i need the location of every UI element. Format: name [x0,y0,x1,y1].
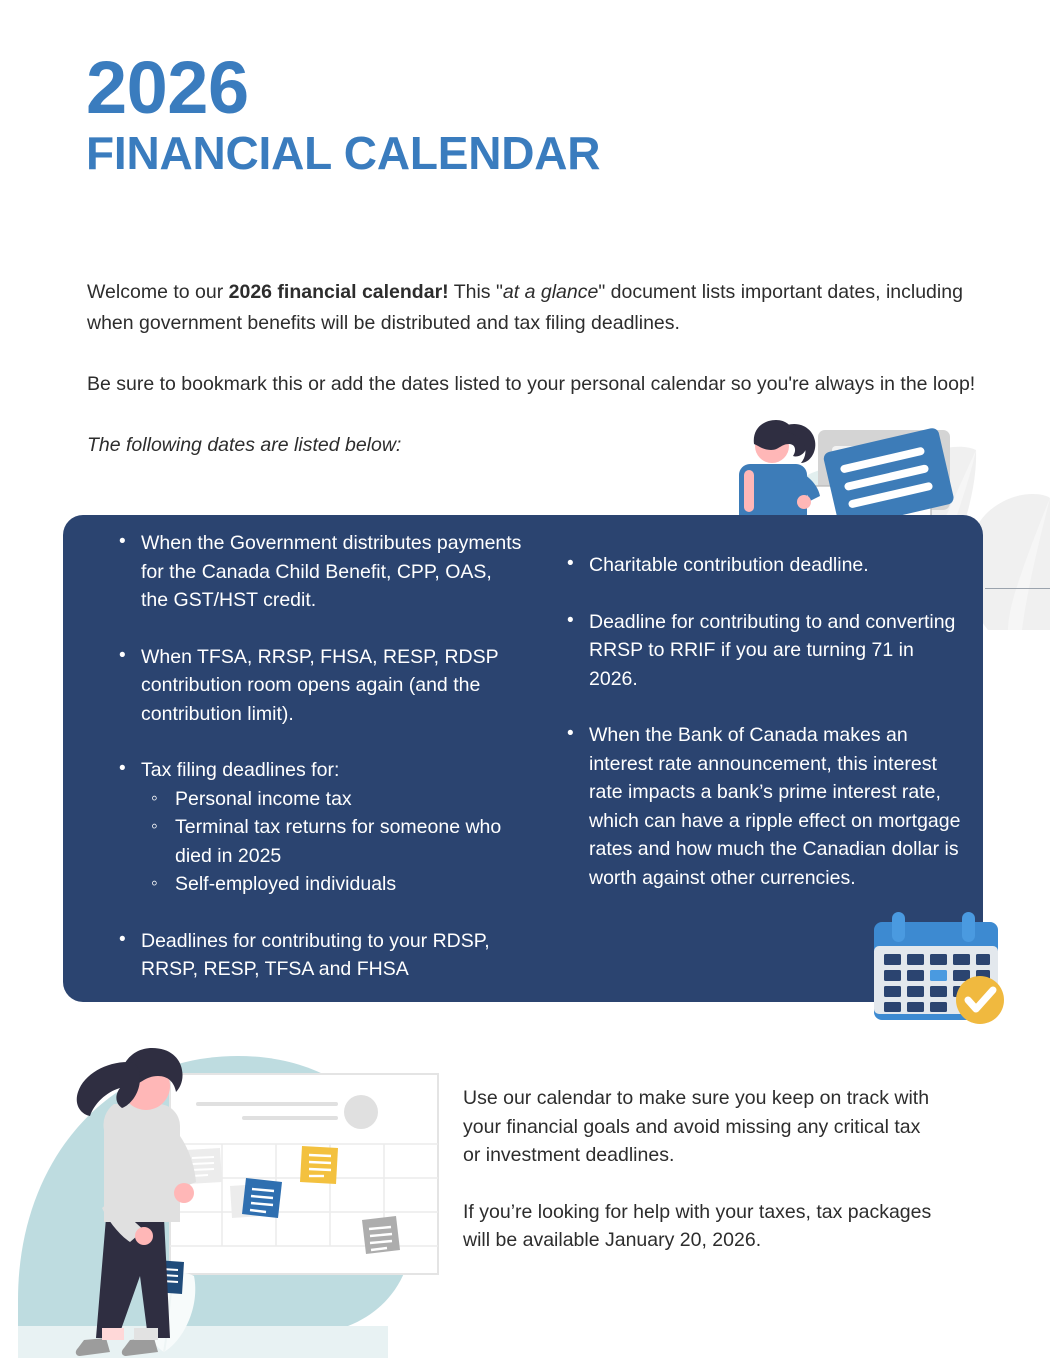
list-item: When the Government distributes payments… [107,529,523,615]
intro-p1-italic: at a glance [503,281,598,303]
list-item: Tax filing deadlines for: Personal incom… [107,756,523,899]
list-item: When the Bank of Canada makes an interes… [555,721,965,892]
list-item: Deadline for contributing to and convert… [555,608,965,694]
sub-list-item: Self-employed individuals [141,870,523,899]
intro-p1-bold: 2026 financial calendar! [229,281,449,303]
highlighted-date-cell [930,970,947,981]
card-left-column: When the Government distributes payments… [63,515,533,1002]
title-main: FINANCIAL CALENDAR [86,129,886,177]
sticky-note-yellow [300,1146,338,1184]
sub-list-item-text: Terminal tax returns for someone who die… [175,816,501,867]
list-item-text: Deadline for contributing to and convert… [589,611,955,690]
outro-paragraph-2: If you’re looking for help with your tax… [463,1198,933,1255]
intro-paragraph-2: Be sure to bookmark this or add the date… [87,369,977,400]
sub-list-item-text: Self-employed individuals [175,873,396,895]
sticky-note-grey-2 [362,1216,400,1254]
intro-lead-in: The following dates are listed below: [87,430,977,461]
title-year: 2026 [86,52,886,125]
horizontal-rule-decoration [985,588,1050,589]
left-bullet-list: When the Government distributes payments… [107,529,523,984]
sub-list-item: Personal income tax [141,785,523,814]
sub-list-item: Terminal tax returns for someone who die… [141,813,523,870]
right-bullet-list: Charitable contribution deadline. Deadli… [555,551,965,892]
page-root: 2026 FINANCIAL CALENDAR [0,0,1050,1364]
key-dates-card: When the Government distributes payments… [63,515,983,1002]
list-item-text: When the Government distributes payments… [141,532,521,611]
list-item-text: Tax filing deadlines for: [141,759,339,781]
calendar-check-icon [862,908,1012,1026]
intro-text: Welcome to our 2026 financial calendar! … [87,277,977,461]
intro-p1-part-a: Welcome to our [87,281,229,303]
list-item-text: When the Bank of Canada makes an interes… [589,724,960,889]
intro-p1-part-c: This " [449,281,503,303]
outro-text: Use our calendar to make sure you keep o… [463,1084,933,1255]
intro-paragraph-1: Welcome to our 2026 financial calendar! … [87,277,977,339]
outro-paragraph-1: Use our calendar to make sure you keep o… [463,1084,933,1170]
page-title: 2026 FINANCIAL CALENDAR [86,52,886,177]
list-item-text: Charitable contribution deadline. [589,554,869,576]
sub-list-item-text: Personal income tax [175,788,352,810]
woman-at-calendar-board-illustration [18,1040,448,1364]
list-item: Charitable contribution deadline. [555,551,965,580]
tax-filing-sublist: Personal income tax Terminal tax returns… [141,785,523,899]
list-item-text: When TFSA, RRSP, FHSA, RESP, RDSP contri… [141,646,498,725]
list-item: When TFSA, RRSP, FHSA, RESP, RDSP contri… [107,643,523,729]
list-item-text: Deadlines for contributing to your RDSP,… [141,930,490,981]
list-item: Deadlines for contributing to your RDSP,… [107,927,523,984]
